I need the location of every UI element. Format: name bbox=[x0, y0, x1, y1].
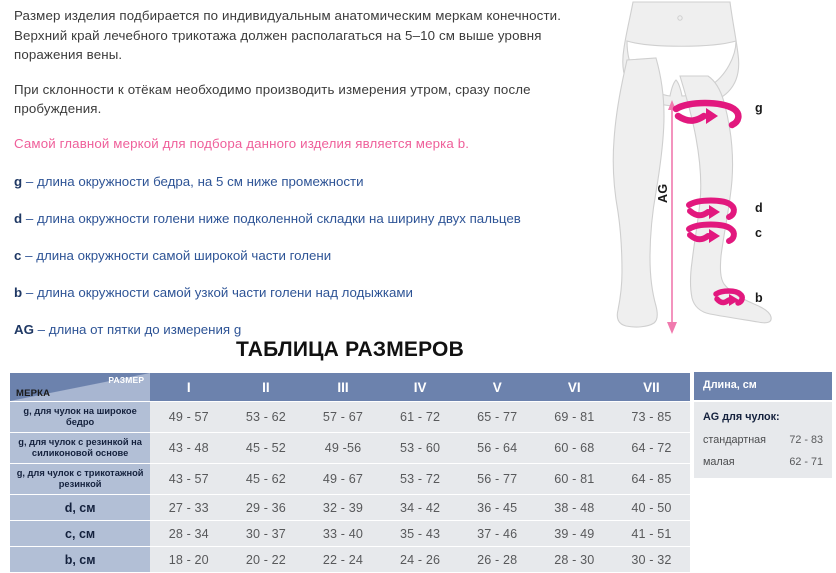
definition-key-d: d bbox=[14, 211, 22, 226]
cell-r3-c5: 38 - 48 bbox=[536, 495, 613, 520]
size-table-header-row: РАЗМЕР МЕРКА I II III IV V VI VII bbox=[10, 373, 690, 401]
column-header-4: IV bbox=[382, 373, 459, 401]
cell-r2-c6: 64 - 85 bbox=[613, 464, 690, 494]
cell-r2-c4: 56 - 77 bbox=[459, 464, 536, 494]
table-row: c, см 28 - 34 30 - 37 33 - 40 35 - 43 37… bbox=[10, 521, 690, 546]
column-header-2: II bbox=[227, 373, 304, 401]
header-corner-merka: МЕРКА bbox=[16, 388, 50, 399]
size-table-title: ТАБЛИЦА РАЗМЕРОВ bbox=[0, 338, 700, 362]
definition-dash-ag: – bbox=[38, 322, 45, 337]
definition-text-d: длина окружности голени ниже подколенной… bbox=[37, 211, 521, 226]
row-label-b: b, см bbox=[10, 547, 150, 572]
definition-item-d: d – длина окружности голени ниже подколе… bbox=[14, 210, 610, 228]
illustration-label-ag: AG bbox=[656, 184, 670, 204]
cell-r3-c0: 27 - 33 bbox=[150, 495, 227, 520]
side-panel-body: AG для чулок: стандартная 72 - 83 малая … bbox=[694, 402, 832, 478]
definition-dash-b: – bbox=[26, 285, 33, 300]
illustration-label-g: g bbox=[755, 101, 763, 115]
cell-r1-c5: 60 - 68 bbox=[536, 433, 613, 463]
cell-r0-c4: 65 - 77 bbox=[459, 402, 536, 432]
row-label-g-silicone-band: g, для чулок с резинкой на силиконовой о… bbox=[10, 433, 150, 463]
row-label-c: c, см bbox=[10, 521, 150, 546]
cell-r5-c0: 18 - 20 bbox=[150, 547, 227, 572]
side-panel-row-standard: стандартная 72 - 83 bbox=[703, 434, 823, 446]
definition-item-g: g – длина окружности бедра, на 5 см ниже… bbox=[14, 173, 610, 191]
cell-r4-c5: 39 - 49 bbox=[536, 521, 613, 546]
cell-r4-c2: 33 - 40 bbox=[304, 521, 381, 546]
cell-r0-c2: 57 - 67 bbox=[304, 402, 381, 432]
cell-r5-c1: 20 - 22 bbox=[227, 547, 304, 572]
cell-r0-c3: 61 - 72 bbox=[382, 402, 459, 432]
illustration-label-c: c bbox=[755, 226, 762, 240]
cell-r0-c0: 49 - 57 bbox=[150, 402, 227, 432]
cell-r4-c3: 35 - 43 bbox=[382, 521, 459, 546]
cell-r1-c0: 43 - 48 bbox=[150, 433, 227, 463]
cell-r4-c1: 30 - 37 bbox=[227, 521, 304, 546]
cell-r0-c1: 53 - 62 bbox=[227, 402, 304, 432]
table-row: b, см 18 - 20 20 - 22 22 - 24 24 - 26 26… bbox=[10, 547, 690, 572]
length-side-panel: Длина, см AG для чулок: стандартная 72 -… bbox=[694, 372, 832, 478]
definition-dash-d: – bbox=[26, 211, 33, 226]
measurement-definition-list: g – длина окружности бедра, на 5 см ниже… bbox=[14, 173, 610, 339]
cell-r0-c6: 73 - 85 bbox=[613, 402, 690, 432]
definition-item-b: b – длина окружности самой узкой части г… bbox=[14, 284, 610, 302]
cell-r3-c6: 40 - 50 bbox=[613, 495, 690, 520]
definition-key-b: b bbox=[14, 285, 22, 300]
row-label-g-knit-band: g, для чулок с трикотажной резинкой bbox=[10, 464, 150, 494]
cell-r3-c1: 29 - 36 bbox=[227, 495, 304, 520]
row-label-g-wide-thigh: g, для чулок на широкое бедро bbox=[10, 402, 150, 432]
definition-dash-c: – bbox=[25, 248, 32, 263]
table-row: d, см 27 - 33 29 - 36 32 - 39 34 - 42 36… bbox=[10, 495, 690, 520]
definition-item-c: c – длина окружности самой широкой части… bbox=[14, 247, 610, 265]
definition-dash-g: – bbox=[26, 174, 33, 189]
side-panel-row-small: малая 62 - 71 bbox=[703, 456, 823, 468]
cell-r4-c4: 37 - 46 bbox=[459, 521, 536, 546]
cell-r5-c6: 30 - 32 bbox=[613, 547, 690, 572]
cell-r3-c3: 34 - 42 bbox=[382, 495, 459, 520]
cell-r1-c2: 49 -56 bbox=[304, 433, 381, 463]
table-row: g, для чулок с резинкой на силиконовой о… bbox=[10, 433, 690, 463]
side-panel-header: Длина, см bbox=[694, 372, 832, 400]
cell-r4-c6: 41 - 51 bbox=[613, 521, 690, 546]
definition-text-g: длина окружности бедра, на 5 см ниже про… bbox=[37, 174, 364, 189]
cell-r1-c3: 53 - 60 bbox=[382, 433, 459, 463]
cell-r3-c2: 32 - 39 bbox=[304, 495, 381, 520]
header-corner-cell: РАЗМЕР МЕРКА bbox=[10, 373, 150, 401]
table-row: g, для чулок на широкое бедро 49 - 57 53… bbox=[10, 402, 690, 432]
cell-r5-c3: 24 - 26 bbox=[382, 547, 459, 572]
definition-text-b: длина окружности самой узкой части голен… bbox=[37, 285, 413, 300]
cell-r2-c5: 60 - 81 bbox=[536, 464, 613, 494]
side-panel-name-standard: стандартная bbox=[703, 434, 766, 446]
cell-r2-c0: 43 - 57 bbox=[150, 464, 227, 494]
cell-r1-c1: 45 - 52 bbox=[227, 433, 304, 463]
cell-r5-c2: 22 - 24 bbox=[304, 547, 381, 572]
column-header-6: VI bbox=[536, 373, 613, 401]
size-table: РАЗМЕР МЕРКА I II III IV V VI VII g, для… bbox=[10, 372, 690, 573]
column-header-5: V bbox=[459, 373, 536, 401]
side-panel-value-small: 62 - 71 bbox=[789, 456, 823, 468]
illustration-label-b: b bbox=[755, 291, 763, 305]
cell-r1-c6: 64 - 72 bbox=[613, 433, 690, 463]
cell-r2-c2: 49 - 67 bbox=[304, 464, 381, 494]
definition-item-ag: AG – длина от пятки до измерения g bbox=[14, 321, 610, 339]
cell-r0-c5: 69 - 81 bbox=[536, 402, 613, 432]
cell-r3-c4: 36 - 45 bbox=[459, 495, 536, 520]
illustration-label-d: d bbox=[755, 201, 763, 215]
side-panel-value-standard: 72 - 83 bbox=[789, 434, 823, 446]
female-lower-body-diagram bbox=[600, 0, 836, 345]
column-header-1: I bbox=[150, 373, 227, 401]
cell-r5-c4: 26 - 28 bbox=[459, 547, 536, 572]
column-header-7: VII bbox=[613, 373, 690, 401]
intro-paragraph-1: Размер изделия подбирается по индивидуал… bbox=[14, 6, 610, 65]
cell-r2-c3: 53 - 72 bbox=[382, 464, 459, 494]
cell-r1-c4: 56 - 64 bbox=[459, 433, 536, 463]
column-header-3: III bbox=[304, 373, 381, 401]
definition-text-ag: длина от пятки до измерения g bbox=[49, 322, 241, 337]
side-panel-name-small: малая bbox=[703, 456, 735, 468]
side-panel-title: AG для чулок: bbox=[703, 411, 823, 423]
cell-r5-c5: 28 - 30 bbox=[536, 547, 613, 572]
definition-text-c: длина окружности самой широкой части гол… bbox=[36, 248, 331, 263]
table-row: g, для чулок с трикотажной резинкой 43 -… bbox=[10, 464, 690, 494]
ag-length-arrow bbox=[667, 100, 677, 334]
definition-key-ag: AG bbox=[14, 322, 34, 337]
leg-measurement-illustration: g d c b AG bbox=[600, 0, 836, 345]
row-label-d: d, см bbox=[10, 495, 150, 520]
definition-key-c: c bbox=[14, 248, 21, 263]
intro-text-column: Размер изделия подбирается по индивидуал… bbox=[14, 6, 610, 358]
cell-r4-c0: 28 - 34 bbox=[150, 521, 227, 546]
body-silhouette bbox=[613, 2, 771, 327]
definition-key-g: g bbox=[14, 174, 22, 189]
cell-r2-c1: 45 - 62 bbox=[227, 464, 304, 494]
intro-paragraph-2: При склонности к отёкам необходимо произ… bbox=[14, 80, 610, 119]
header-corner-razmer: РАЗМЕР bbox=[108, 375, 144, 385]
intro-highlight-note: Самой главной меркой для подбора данного… bbox=[14, 134, 610, 154]
